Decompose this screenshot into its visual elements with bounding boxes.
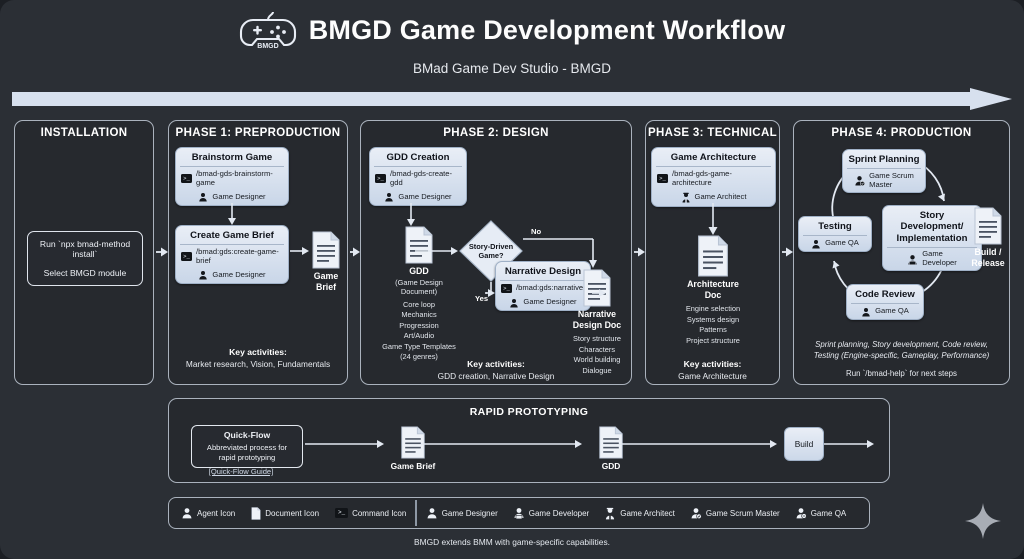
agent-name: Game Designer [398, 193, 451, 202]
legend-generic-group: Agent Icon Document Icon >_ Command Icon [181, 507, 406, 520]
game-architect-icon [604, 507, 616, 520]
edge-label-yes: Yes [475, 294, 488, 303]
phase4-run-help: Run `/bmad-help` for next steps [794, 369, 1009, 378]
legend-item-game-scrum-master: Game Scrum Master [690, 507, 780, 519]
legend-label: Game Scrum Master [706, 509, 780, 518]
game-qa-icon [811, 239, 821, 249]
legend-label: Game Designer [442, 509, 498, 518]
legend-label: Game QA [811, 509, 847, 518]
command-icon: >_ [181, 174, 192, 183]
card-agent-row: Game Designer [176, 268, 288, 283]
footnote: BMGD extends BMM with game-specific capa… [0, 537, 1024, 547]
command-icon: >_ [657, 174, 668, 183]
panel-phase4: PHASE 4: PRODUCTION Sprint Planning [793, 120, 1010, 385]
card-agent-row: Game ScrumMaster [843, 169, 925, 191]
legend-item-game-qa: Game QA [795, 507, 847, 519]
document-build-release: Build /Release [966, 207, 1010, 268]
card-agent-row: Game QA [799, 236, 871, 251]
card-command-row: >_ /bmad-gds-brainstorm-game [176, 167, 288, 189]
install-line-1: Run `npx bmad-method install` [28, 239, 142, 259]
key-activities-phase1: Key activities: Market research, Vision,… [169, 347, 347, 370]
document-icon [404, 226, 434, 264]
legend-label: Game Developer [529, 509, 589, 518]
command-icon: >_ [375, 174, 386, 183]
key-activities-phase3: Key activities: Game Architecture [646, 359, 779, 382]
card-title: GDD Creation [370, 148, 466, 166]
game-designer-icon [384, 192, 394, 202]
document-game-brief: GameBrief [307, 231, 345, 292]
gamepad-icon: BMGD [239, 8, 297, 52]
legend-roles-group: Game Designer Game Developer Game Archit… [426, 507, 847, 520]
quick-flow-box[interactable]: Quick-Flow Abbreviated process for rapid… [191, 425, 303, 468]
card-create-game-brief[interactable]: Create Game Brief >_ /bmad:gds:create-ga… [175, 225, 289, 284]
card-title: Sprint Planning [843, 150, 925, 168]
game-designer-icon [198, 270, 208, 280]
document-gdd: GDD (Game Design Document) Core loopMech… [381, 226, 457, 363]
command-icon: >_ [181, 252, 192, 261]
legend-item-game-architect: Game Architect [604, 507, 675, 520]
legend-item-document: Document Icon [251, 507, 319, 520]
legend-bar: Agent Icon Document Icon >_ Command Icon [168, 497, 870, 529]
agent-icon [181, 507, 193, 519]
logo-text-glyph: BMGD [257, 43, 278, 50]
command-text: /bmad-gds-create-gdd [390, 170, 461, 187]
document-icon [251, 507, 261, 520]
card-command-row: >_ /bmad-gds-game-architecture [652, 167, 775, 189]
document-icon [582, 269, 612, 307]
agent-name: Game QA [825, 239, 859, 248]
legend-item-game-designer: Game Designer [426, 507, 498, 519]
document-icon [311, 231, 341, 269]
legend-label: Agent Icon [197, 509, 235, 518]
game-developer-icon [907, 254, 918, 265]
game-developer-icon [513, 507, 525, 520]
document-bullets: Engine selectionSystems designPatternsPr… [682, 304, 744, 346]
document-bullets: Core loopMechanicsProgressionArt/AudioGa… [381, 300, 457, 363]
card-agent-row: Game Designer [370, 190, 466, 205]
rp-label-game-brief: Game Brief [369, 461, 457, 471]
command-icon: >_ [501, 284, 512, 293]
game-designer-icon [426, 507, 438, 519]
card-command-row: >_ /bmad-gds-create-gdd [370, 167, 466, 189]
legend-divider [415, 500, 416, 526]
agent-name: Game Architect [695, 193, 747, 202]
game-designer-icon [509, 298, 519, 308]
page-title: BMGD Game Development Workflow [309, 15, 786, 46]
timeline-arrow-icon [12, 88, 1012, 110]
card-agent-row: Game Architect [652, 190, 775, 206]
rapid-prototyping-title: RAPID PROTOTYPING [169, 406, 889, 418]
panel-title-phase1: PHASE 1: PREPRODUCTION [169, 127, 347, 139]
sparkle-icon [962, 500, 1004, 542]
document-label: NarrativeDesign Doc [566, 309, 628, 330]
panel-phase1: PHASE 1: PREPRODUCTION Brainstorm Game >… [168, 120, 348, 385]
document-icon [598, 426, 624, 459]
panel-rapid-prototyping: RAPID PROTOTYPING Quick-Flow Abbreviated… [168, 398, 890, 483]
card-code-review[interactable]: Code Review Game QA [846, 284, 924, 320]
panel-phase3: PHASE 3: TECHNICAL Game Architecture >_ … [645, 120, 780, 385]
card-agent-row: Game Designer [176, 190, 288, 205]
card-title: Testing [799, 217, 871, 235]
rp-label-gdd: GDD [567, 461, 655, 471]
panel-title-installation: INSTALLATION [15, 127, 153, 139]
card-brainstorm-game[interactable]: Brainstorm Game >_ /bmad-gds-brainstorm-… [175, 147, 289, 206]
document-icon [696, 235, 730, 277]
command-text: /bmad-gds-brainstorm-game [196, 170, 283, 187]
card-title: Brainstorm Game [176, 148, 288, 166]
agent-name: Game ScrumMaster [869, 172, 914, 189]
panel-installation: INSTALLATION Run `npx bmad-method instal… [14, 120, 154, 385]
command-icon: >_ [335, 508, 348, 518]
install-line-2: Select BMGD module [44, 268, 127, 278]
agent-name: Game Designer [212, 271, 265, 280]
quick-flow-guide-link[interactable]: [Quick-Flow Guide] [0, 467, 601, 476]
panel-title-phase4: PHASE 4: PRODUCTION [794, 127, 1009, 139]
legend-label: Command Icon [352, 509, 406, 518]
document-label: Build /Release [966, 247, 1010, 268]
legend-item-game-developer: Game Developer [513, 507, 589, 520]
installation-command-box: Run `npx bmad-method install` Select BMG… [27, 231, 143, 286]
legend-item-agent: Agent Icon [181, 507, 235, 519]
document-label: GameBrief [307, 271, 345, 292]
game-scrum-master-icon [690, 507, 702, 519]
panel-title-phase2: PHASE 2: DESIGN [361, 127, 631, 139]
legend-label: Game Architect [620, 509, 675, 518]
game-designer-icon [198, 192, 208, 202]
document-sublabel: (Game Design Document) [381, 278, 457, 296]
panel-phase2: PHASE 2: DESIGN GDD Creation >_ /bmad-gd… [360, 120, 632, 385]
command-text: /bmad-gds-game-architecture [672, 170, 770, 187]
document-label: Architecture Doc [682, 279, 744, 300]
card-sprint-planning[interactable]: Sprint Planning Game ScrumMaster [842, 149, 926, 193]
quick-flow-desc: Abbreviated process for rapid prototypin… [198, 443, 296, 463]
document-icon [973, 207, 1003, 245]
game-architect-icon [681, 192, 691, 203]
game-qa-icon [795, 507, 807, 519]
rp-build-box[interactable]: Build [784, 427, 824, 461]
rp-document-gdd [589, 426, 633, 459]
page-subtitle: BMad Game Dev Studio - BMGD [0, 61, 1024, 76]
phase4-notes: Sprint planning, Story development, Code… [794, 339, 1009, 361]
card-command-row: >_ /bmad:gds:create-game-brief [176, 245, 288, 267]
agent-name: Game Designer [212, 193, 265, 202]
game-qa-icon [861, 307, 871, 317]
legend-item-command: >_ Command Icon [335, 508, 406, 518]
quick-flow-title: Quick-Flow [198, 430, 296, 441]
document-architecture: Architecture Doc Engine selectionSystems… [682, 235, 744, 346]
document-icon [400, 426, 426, 459]
card-gdd-creation[interactable]: GDD Creation >_ /bmad-gds-create-gdd Gam… [369, 147, 467, 206]
agent-name: Game QA [875, 307, 909, 316]
rp-document-game-brief [391, 426, 435, 459]
workflow-diagram: BMGD BMGD Game Development Workflow BMad… [0, 0, 1024, 559]
card-agent-row: Game QA [847, 304, 923, 319]
document-label: GDD [381, 266, 457, 277]
game-scrum-master-icon [854, 175, 865, 186]
agent-name: GameDeveloper [922, 250, 957, 267]
panel-title-phase3: PHASE 3: TECHNICAL [646, 127, 779, 139]
edge-label-no: No [531, 227, 541, 236]
legend-label: Document Icon [265, 509, 319, 518]
header: BMGD BMGD Game Development Workflow BMad… [0, 8, 1024, 76]
card-title: Game Architecture [652, 148, 775, 166]
key-activities-phase2: Key activities: GDD creation, Narrative … [361, 359, 631, 382]
card-title: Create Game Brief [176, 226, 288, 244]
card-title: Code Review [847, 285, 923, 303]
card-testing[interactable]: Testing Game QA [798, 216, 872, 252]
command-text: /bmad:gds:create-game-brief [196, 248, 283, 265]
card-game-architecture[interactable]: Game Architecture >_ /bmad-gds-game-arch… [651, 147, 776, 207]
